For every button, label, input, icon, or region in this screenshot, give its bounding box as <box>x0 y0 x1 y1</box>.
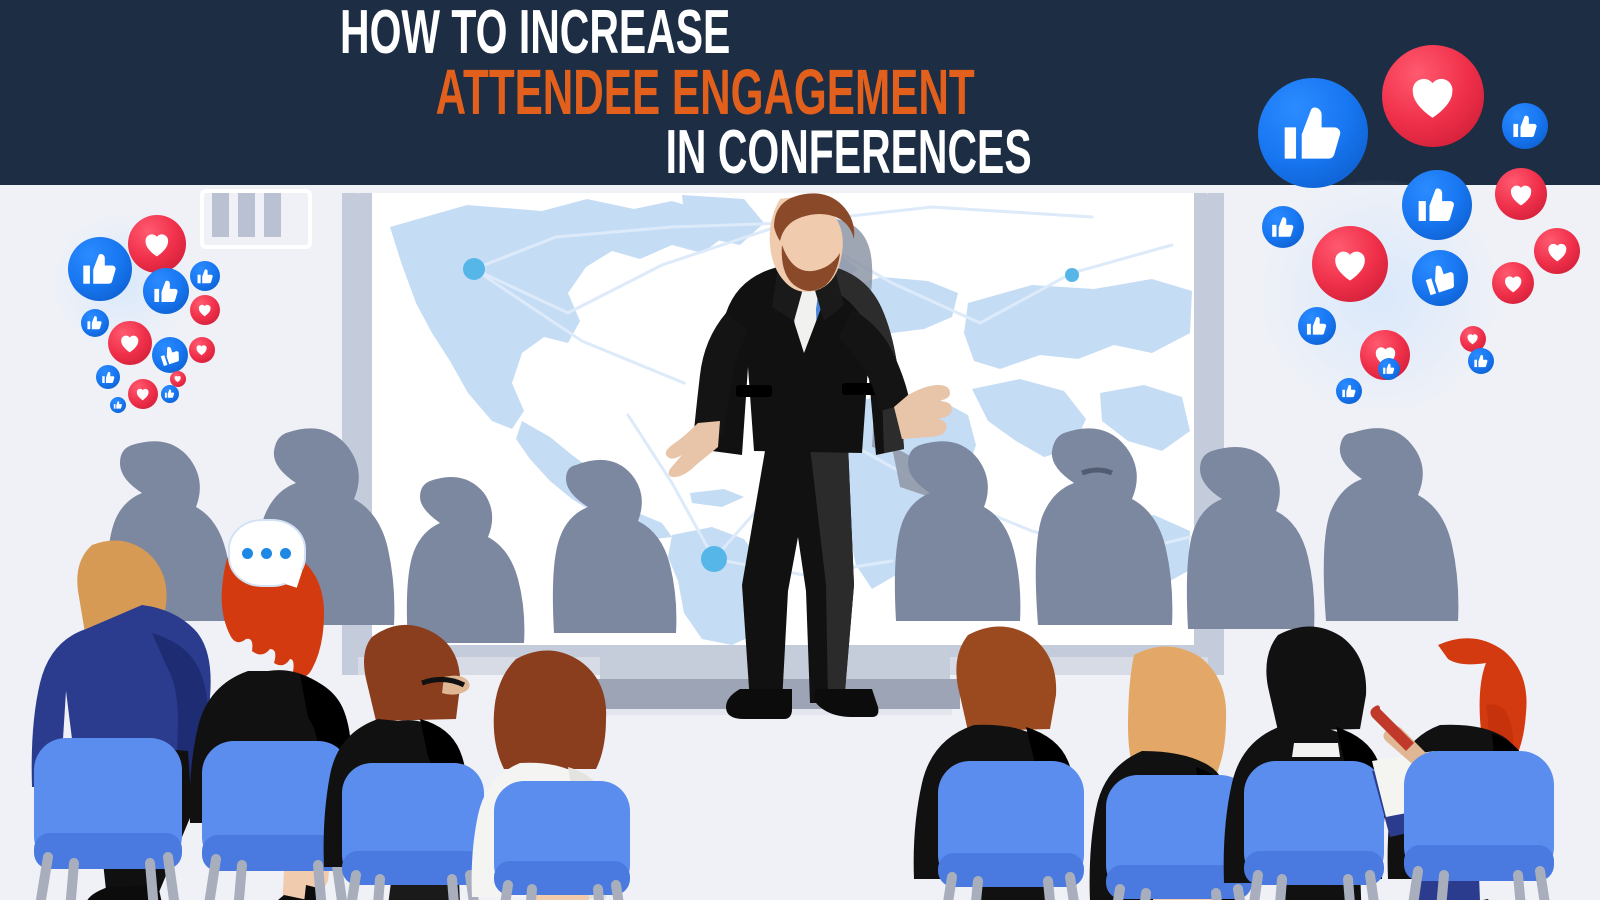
heart-icon <box>128 379 158 409</box>
poster-canvas: HOW TO INCREASE ATTENDEE ENGAGEMENT IN C… <box>0 0 1600 900</box>
thumbs-up-icon <box>1258 78 1368 188</box>
heart-icon <box>1534 228 1580 274</box>
thumbs-up-icon <box>1298 307 1336 345</box>
reaction-cluster-left <box>0 185 340 445</box>
thumbs-up-icon <box>1468 348 1494 374</box>
thumbs-up-icon <box>96 365 120 389</box>
chair-left-4 <box>488 781 636 900</box>
heart-icon <box>1312 226 1388 302</box>
heart-icon <box>1492 262 1534 304</box>
chat-dot <box>261 548 272 559</box>
title-line-2: ATTENDEE ENGAGEMENT <box>436 63 975 122</box>
thumbs-up-icon <box>161 385 179 403</box>
thumbs-up-icon <box>110 397 126 413</box>
heart-icon <box>190 295 220 325</box>
chat-dot <box>242 548 253 559</box>
heart-icon <box>1382 45 1484 147</box>
thumbs-up-icon <box>190 261 220 291</box>
thumbs-up-icon <box>1378 358 1400 380</box>
title-line-1: HOW TO INCREASE <box>340 4 730 61</box>
heart-icon <box>1495 168 1547 220</box>
chat-dot <box>280 548 291 559</box>
heart-icon <box>189 337 215 363</box>
thumbs-up-icon <box>1402 170 1472 240</box>
heart-icon <box>128 215 186 273</box>
chair-right-3 <box>1238 761 1390 900</box>
thumbs-up-icon <box>81 309 109 337</box>
thumbs-up-icon <box>1412 250 1468 306</box>
thumbs-up-icon <box>1336 378 1362 404</box>
title-line-3: IN CONFERENCES <box>666 124 1032 181</box>
thumbs-up-icon <box>143 268 189 314</box>
thumbs-up-icon <box>68 237 132 301</box>
chair-left-3 <box>334 763 490 900</box>
chair-right-1 <box>930 761 1092 900</box>
thumbs-up-icon <box>1262 206 1304 248</box>
thumbs-up-icon <box>1502 103 1548 149</box>
chair-right-4 <box>1396 751 1562 900</box>
poster-title: HOW TO INCREASE ATTENDEE ENGAGEMENT IN C… <box>0 0 1085 185</box>
reaction-cluster-right <box>1230 30 1600 430</box>
heart-icon <box>108 321 152 365</box>
thumbs-up-icon <box>152 337 188 373</box>
